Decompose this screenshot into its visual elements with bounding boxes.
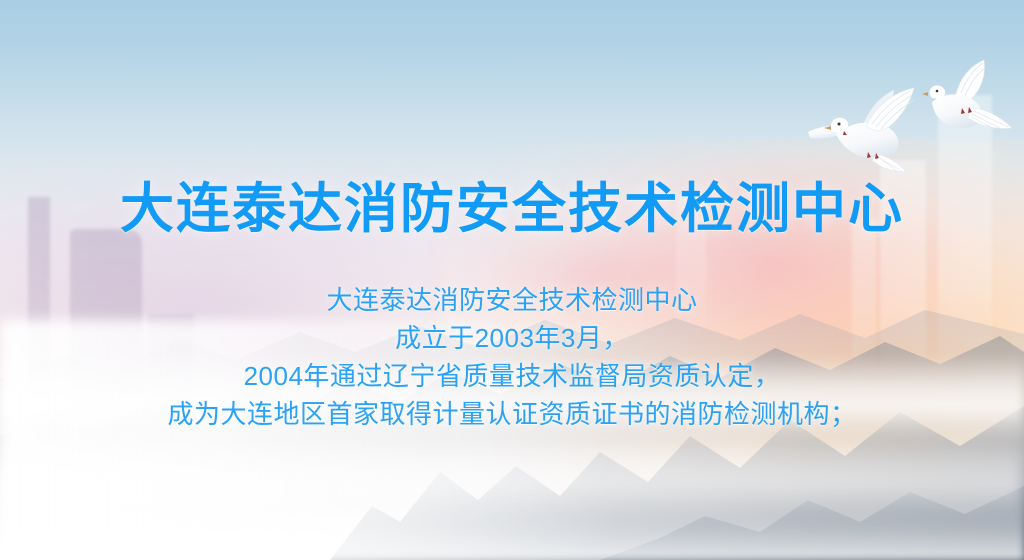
- description-line: 成立于2003年3月，: [0, 319, 1024, 357]
- dove-right-icon: [912, 60, 1016, 140]
- description-block: 大连泰达消防安全技术检测中心 成立于2003年3月， 2004年通过辽宁省质量技…: [0, 281, 1024, 433]
- page-title: 大连泰达消防安全技术检测中心: [0, 164, 1024, 243]
- description-line: 成为大连地区首家取得计量认证资质证书的消防检测机构；: [0, 395, 1024, 433]
- description-line: 大连泰达消防安全技术检测中心: [0, 281, 1024, 319]
- banner: 大连泰达消防安全技术检测中心 大连泰达消防安全技术检测中心 成立于2003年3月…: [0, 0, 1024, 560]
- mist-floor: [0, 490, 1024, 560]
- description-line: 2004年通过辽宁省质量技术监督局资质认定，: [0, 357, 1024, 395]
